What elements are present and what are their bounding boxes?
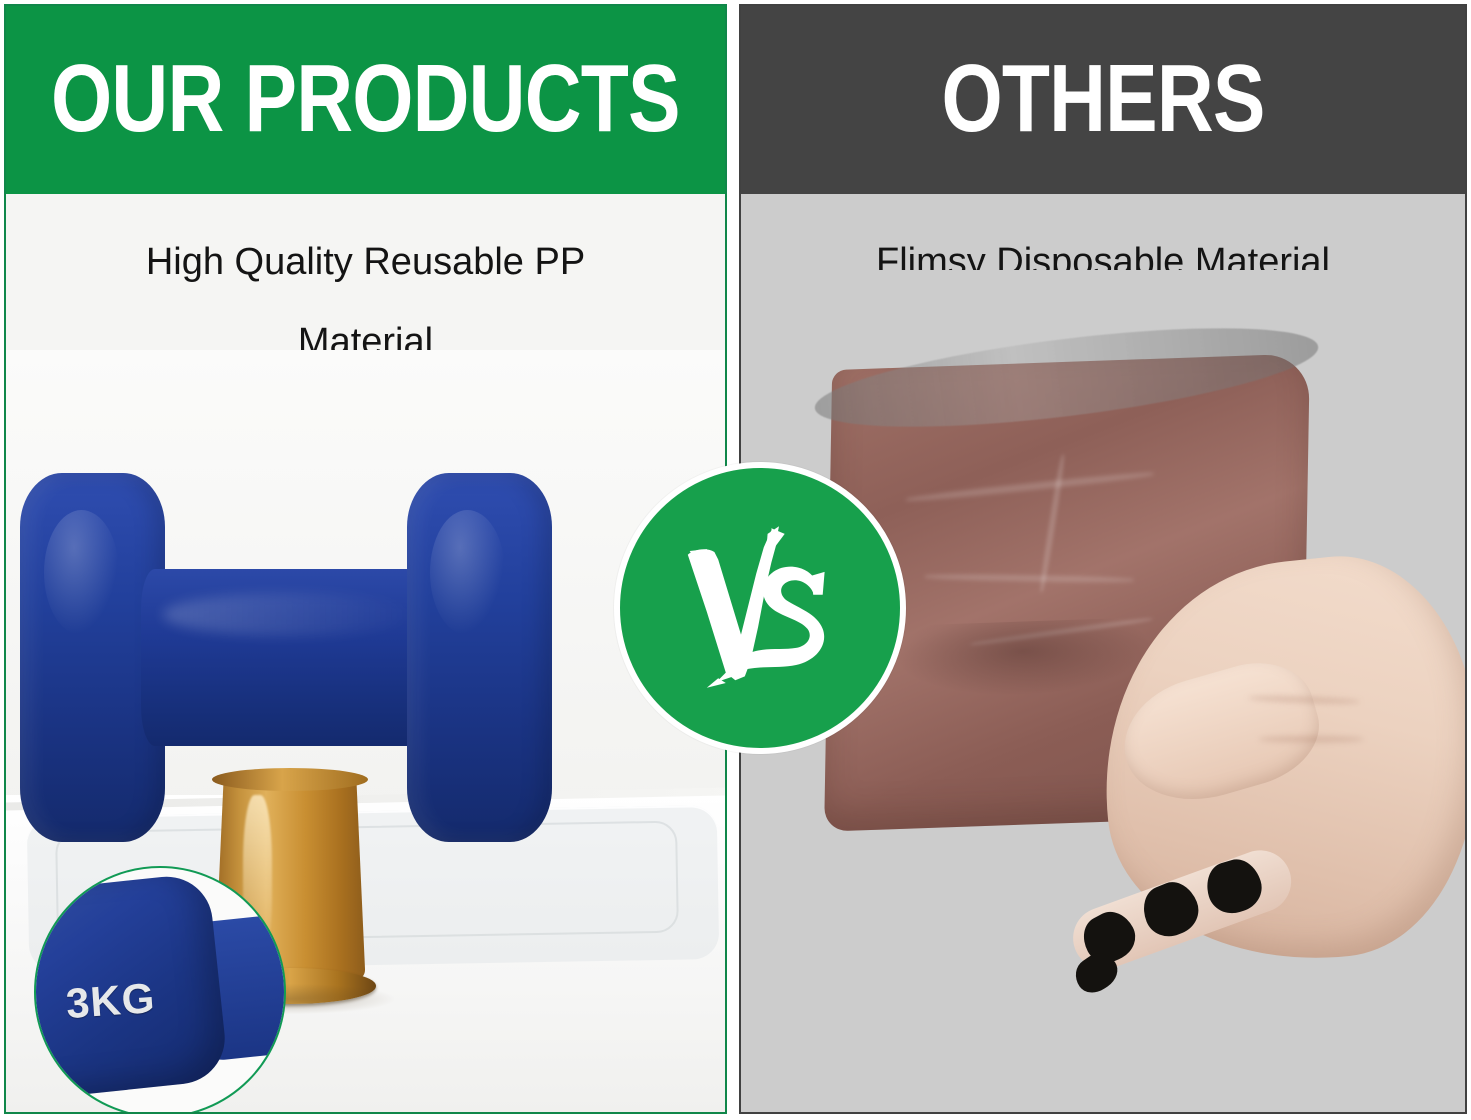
comparison-graphic: OUR PRODUCTS High Quality Reusable PP Ma… [0, 0, 1471, 1120]
weight-detail-inset: 3KG [34, 866, 286, 1114]
pp-cup-lip [212, 768, 369, 791]
our-products-frame: OUR PRODUCTS High Quality Reusable PP Ma… [4, 4, 727, 1114]
thumb [1109, 648, 1330, 817]
fingernails-group [1049, 829, 1337, 995]
our-products-caption-line-1: High Quality Reusable PP [52, 222, 679, 302]
weight-label: 3KG [64, 974, 156, 1028]
bag-crease [924, 574, 1134, 584]
vs-badge-icon [665, 513, 855, 703]
dumbbell-head-right [407, 473, 552, 842]
vs-badge [614, 462, 906, 754]
our-products-title: OUR PRODUCTS [51, 51, 680, 147]
bag-shadow [893, 617, 1152, 700]
others-header: OTHERS [739, 4, 1467, 194]
bag-crease [1038, 455, 1066, 593]
others-title: OTHERS [941, 51, 1264, 147]
knuckle-crease [1259, 735, 1364, 742]
our-products-header: OUR PRODUCTS [4, 4, 727, 194]
bag-crease [906, 470, 1154, 503]
